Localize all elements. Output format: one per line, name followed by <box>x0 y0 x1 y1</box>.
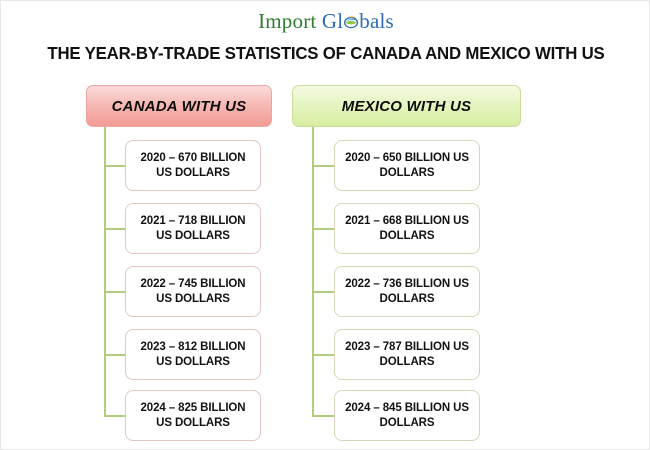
stat-item[interactable]: 2022 – 745 BILLION US DOLLARS <box>125 266 261 317</box>
globe-icon <box>343 11 359 27</box>
connector-branch <box>104 291 126 293</box>
logo-text-gl: Gl <box>322 9 343 33</box>
connector-branch <box>104 415 126 417</box>
connector-branch <box>104 228 126 230</box>
connector-trunk <box>104 127 106 415</box>
stat-item[interactable]: 2021 – 718 BILLION US DOLLARS <box>125 203 261 254</box>
connector-branch <box>312 291 335 293</box>
stat-item[interactable]: 2020 – 650 BILLION US DOLLARS <box>334 140 480 191</box>
stat-item[interactable]: 2020 – 670 BILLION US DOLLARS <box>125 140 261 191</box>
connector-branch <box>104 354 126 356</box>
stat-item[interactable]: 2021 – 668 BILLION US DOLLARS <box>334 203 480 254</box>
column-header-canada[interactable]: CANADA WITH US <box>86 85 272 127</box>
brand-logo: Import Gl bals <box>1 9 650 33</box>
column-header-mexico[interactable]: MEXICO WITH US <box>292 85 521 127</box>
page-title: THE YEAR-BY-TRADE STATISTICS OF CANADA A… <box>14 42 638 64</box>
column-canada: CANADA WITH US <box>86 85 272 127</box>
connector-trunk <box>312 127 314 415</box>
stat-item[interactable]: 2024 – 845 BILLION US DOLLARS <box>334 390 480 441</box>
connector-branch <box>312 354 335 356</box>
infographic-canvas: Import Gl bals THE YEAR-BY-TRADE STATIST… <box>0 0 650 450</box>
connector-branch <box>312 228 335 230</box>
connector-branch <box>104 165 126 167</box>
logo-text-import: Import <box>258 9 316 33</box>
connector-branch <box>312 165 335 167</box>
logo-text-bals: bals <box>359 9 394 33</box>
stat-item[interactable]: 2024 – 825 BILLION US DOLLARS <box>125 390 261 441</box>
stat-item[interactable]: 2022 – 736 BILLION US DOLLARS <box>334 266 480 317</box>
stat-item[interactable]: 2023 – 787 BILLION US DOLLARS <box>334 329 480 380</box>
connector-branch <box>312 415 335 417</box>
stat-item[interactable]: 2023 – 812 BILLION US DOLLARS <box>125 329 261 380</box>
column-mexico: MEXICO WITH US <box>292 85 521 127</box>
